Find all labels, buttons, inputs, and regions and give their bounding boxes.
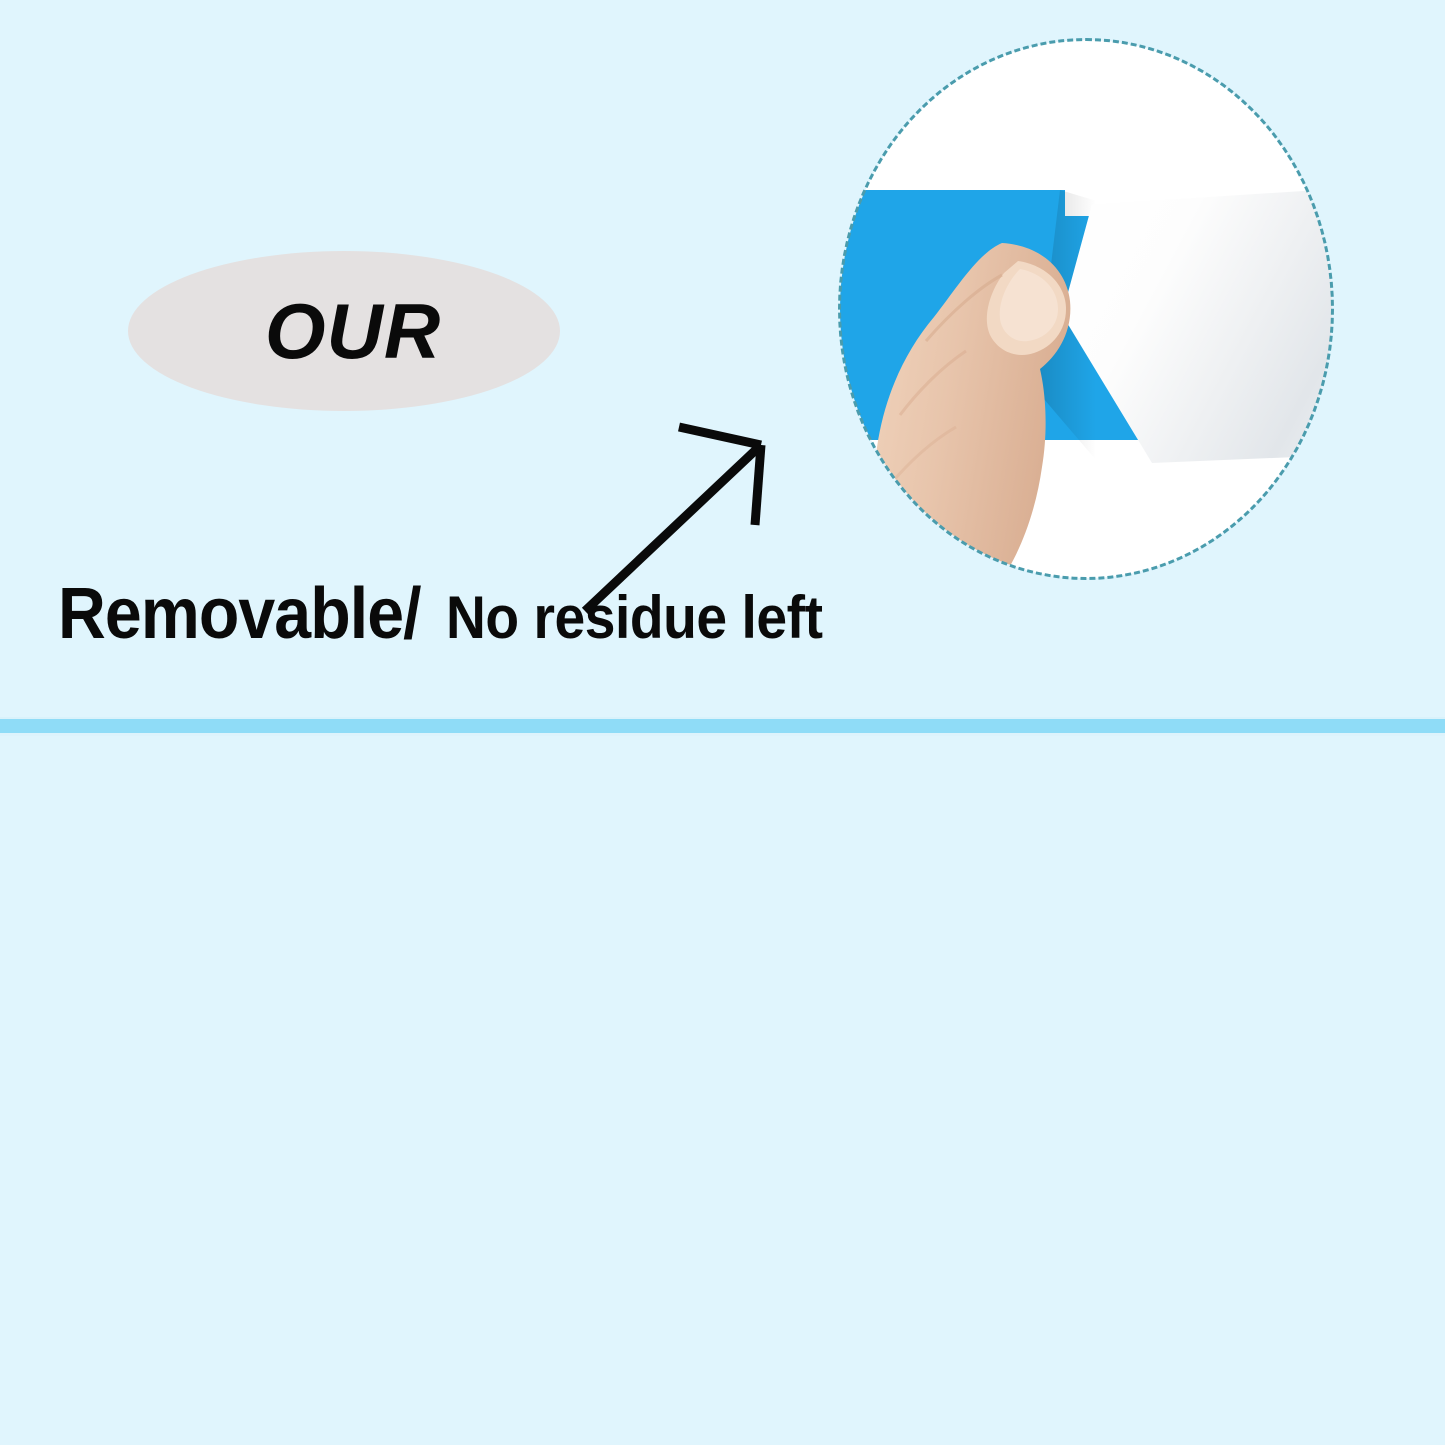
hand-graphic xyxy=(870,235,1140,578)
panel-divider xyxy=(0,717,1445,736)
badge-our: OUR xyxy=(128,251,560,411)
comparison-infographic: OUR Removable/No residue left xyxy=(0,0,1445,1445)
panel-other: OTHER Not easy to remove xyxy=(0,736,1445,1445)
arrow-up-right-icon xyxy=(565,415,805,630)
photo-hand-peeling-sticker xyxy=(840,40,1332,578)
caption-our-primary: Removable/ xyxy=(58,578,421,650)
badge-our-label: OUR xyxy=(265,292,441,370)
panel-our: OUR Removable/No residue left xyxy=(0,0,1445,717)
